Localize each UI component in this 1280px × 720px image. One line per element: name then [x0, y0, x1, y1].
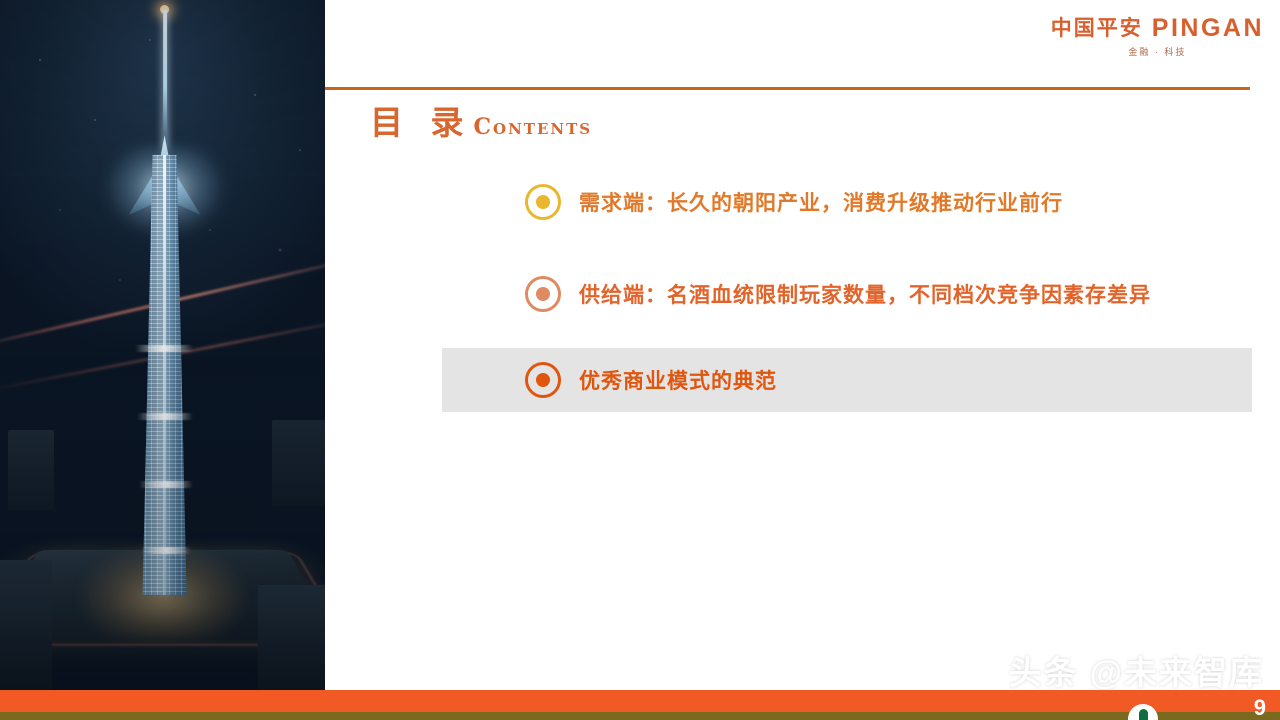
hero-photo-panel [0, 0, 325, 690]
footer-bottom-strip [0, 712, 1280, 720]
contents-item-1[interactable]: 需求端：长久的朝阳产业，消费升级推动行业前行 [325, 170, 1280, 234]
contents-item-1-label: 需求端：长久的朝阳产业，消费升级推动行业前行 [579, 187, 1063, 217]
bullet-target-icon [525, 362, 561, 398]
contents-item-2-label: 供给端：名酒血统限制玩家数量，不同档次竞争因素存差异 [579, 279, 1151, 309]
photo-vignette [0, 0, 325, 690]
logo-brand-cn: 中国平安 [1051, 18, 1143, 39]
footer-accent-bar [0, 690, 1280, 712]
page-title: 目 录 Contents [370, 96, 592, 144]
page-number: 9 [1254, 697, 1266, 719]
logo-wordmark: 中国平安 PINGAN [1051, 16, 1264, 41]
pingan-logo: 中国平安 PINGAN 金融 · 科技 [1051, 16, 1264, 57]
contents-list: 需求端：长久的朝阳产业，消费升级推动行业前行 供给端：名酒血统限制玩家数量，不同… [325, 170, 1280, 412]
contents-item-3-label: 优秀商业模式的典范 [579, 365, 777, 395]
contents-item-2[interactable]: 供给端：名酒血统限制玩家数量，不同档次竞争因素存差异 [325, 262, 1280, 326]
watermark-text: 头条 @未来智库 [1009, 646, 1264, 694]
page-title-en: Contents [474, 114, 593, 140]
slide-canvas: 中国平安 PINGAN 金融 · 科技 目 录 Contents 需求端：长久的… [0, 0, 1280, 720]
page-title-cn: 目 录 [370, 96, 472, 144]
header-divider [325, 87, 1250, 90]
logo-tagline: 金融 · 科技 [1051, 48, 1264, 57]
contents-item-3[interactable]: 优秀商业模式的典范 [442, 348, 1252, 412]
logo-brand-en: PINGAN [1152, 16, 1264, 41]
bullet-target-icon [525, 276, 561, 312]
bullet-target-icon [525, 184, 561, 220]
